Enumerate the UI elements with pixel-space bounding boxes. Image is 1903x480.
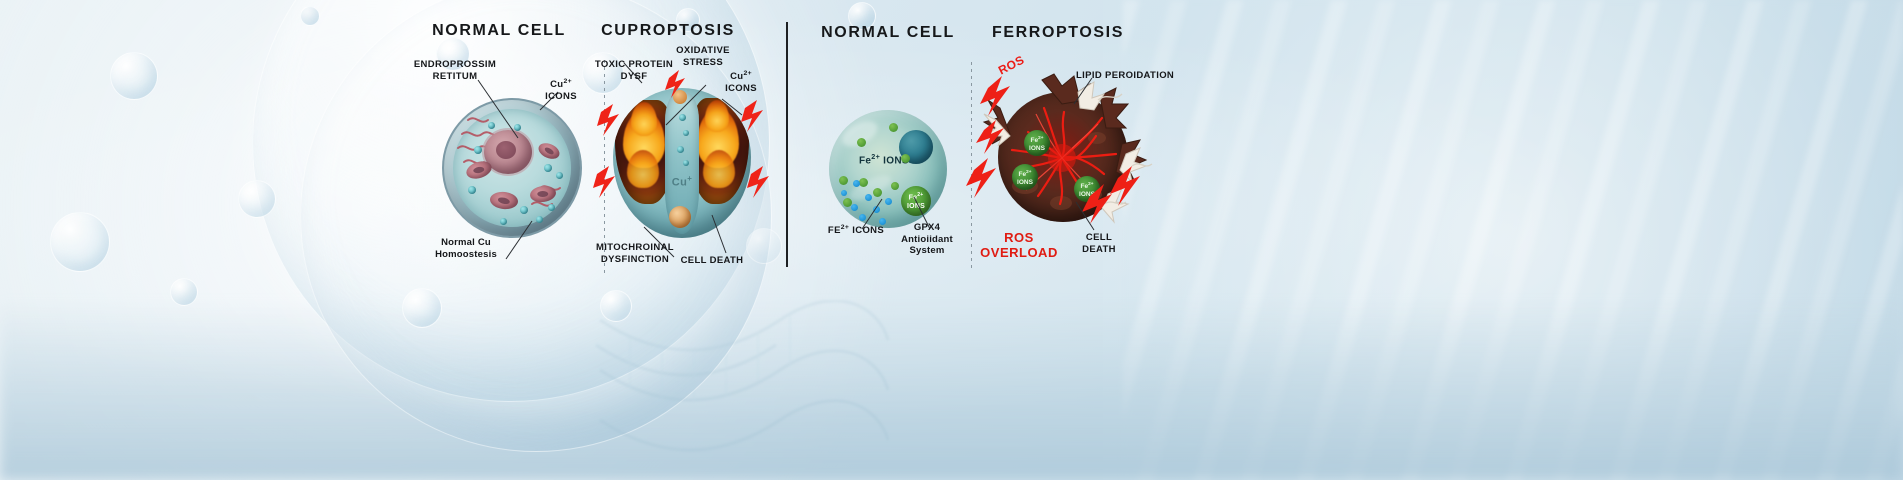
diagram-canvas: NORMAL CELL CUPROPTOSIS NORMAL CELL FERR… bbox=[0, 0, 1903, 480]
label-gpx4-antioxidant-system: GPX4 Antioiidant System bbox=[901, 222, 953, 257]
cu-ion-vesicle-icon bbox=[548, 204, 555, 211]
fe-ion-dot bbox=[889, 123, 898, 132]
cu-ion-vesicle-icon bbox=[544, 164, 552, 172]
cu-ion-vesicle-icon bbox=[520, 206, 528, 214]
label-oxidative-stress: OXIDATIVE STRESS bbox=[676, 45, 730, 68]
cu-ion-vesicle-icon bbox=[536, 216, 543, 223]
ion-dot-blue bbox=[865, 194, 872, 201]
ion-dot-blue bbox=[841, 190, 847, 196]
cu-ion-vesicle-icon bbox=[556, 172, 563, 179]
label-normal-cu-homeostasis: Normal Cu Homoostesis bbox=[435, 237, 497, 260]
panel-title-ferroptosis: FERROPTOSIS bbox=[992, 24, 1124, 42]
fe-ion-dot bbox=[857, 138, 866, 147]
gpx4-badge: Fe2+IONS bbox=[901, 186, 931, 216]
cu-ion-vesicle-icon bbox=[468, 186, 476, 194]
label-cu-ions: Cu2+ICONS bbox=[545, 76, 577, 102]
label-toxic-protein-dysfunction: TOXIC PROTEIN DYSF bbox=[595, 59, 673, 82]
label-lipid-peroxidation: LIPID PEROIDATION bbox=[1076, 70, 1174, 82]
divider-center-solid bbox=[786, 22, 788, 267]
panel-title-cuproptosis: CUPROPTOSIS bbox=[601, 22, 735, 40]
cu-ion-vesicle-icon bbox=[488, 122, 495, 129]
fe-ion-dot bbox=[839, 176, 848, 185]
label-ros-overload: ROS OVERLOAD bbox=[980, 230, 1058, 260]
ion-dot-blue bbox=[885, 198, 892, 205]
ion-dot-blue bbox=[853, 180, 860, 187]
ferroptosis-cell-illustration: Fe2+IONS Fe2+IONS Fe2+IONS bbox=[998, 92, 1128, 222]
fe-ion-dot bbox=[891, 182, 899, 190]
fe-ion-dot bbox=[873, 188, 882, 197]
cu-ion-vesicle-icon bbox=[474, 146, 482, 154]
label-mitochondrial-dysfunction: MITOCHROINAL DYSFINCTION bbox=[596, 242, 674, 265]
lightning-bolts-icon bbox=[595, 82, 771, 252]
label-cu-ions-cuproptosis: Cu2+ICONS bbox=[725, 68, 757, 94]
cu-ion-vesicle-icon bbox=[514, 124, 521, 131]
panel-title-normal-cell-cu: NORMAL CELL bbox=[432, 22, 566, 40]
ion-dot-blue bbox=[873, 206, 880, 213]
ion-dot-blue bbox=[859, 214, 866, 221]
cuproptosis-cell-illustration: Cu+ bbox=[613, 88, 751, 238]
label-fe-ions: FE2+ ICONS bbox=[828, 222, 884, 237]
normal-cell-fe-illustration: Fe2+ IONS Fe2+IONS bbox=[829, 110, 947, 228]
cu-ion-vesicle-icon bbox=[500, 218, 507, 225]
fe-ion-dot bbox=[901, 154, 910, 163]
label-cell-death-ferroptosis: CELL DEATH bbox=[1082, 232, 1116, 255]
label-endoplasmic-reticulum: ENDROPROSSIM RETITUM bbox=[414, 59, 496, 82]
fe-ion-dot bbox=[859, 178, 868, 187]
ion-dot-blue bbox=[851, 204, 858, 211]
panel-title-normal-cell-fe: NORMAL CELL bbox=[821, 24, 955, 42]
label-cell-death-cuproptosis: CELL DEATH bbox=[681, 255, 744, 267]
normal-cell-cu-illustration bbox=[442, 98, 582, 238]
gpx4-badge-text: Fe2+IONS bbox=[907, 191, 925, 210]
